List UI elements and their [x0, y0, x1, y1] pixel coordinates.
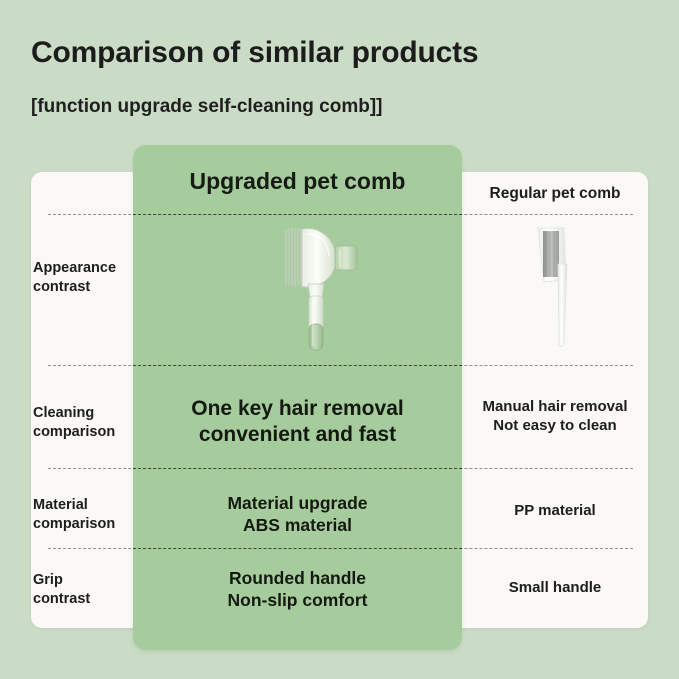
regular-pet-comb-illustration [522, 224, 592, 350]
cell-regular-cleaning: Manual hair removal Not easy to clean [462, 397, 648, 435]
cell-featured-cleaning-line1: One key hair removal [133, 396, 462, 422]
cell-regular-grip: Small handle [462, 578, 648, 597]
column-header-regular: Regular pet comb [462, 185, 648, 203]
row-label-cleaning: Cleaning comparison [31, 404, 133, 441]
page-title: Comparison of similar products [31, 36, 478, 70]
row-divider-1 [48, 365, 633, 366]
row-label-material-line1: Material [33, 496, 133, 515]
cell-featured-cleaning: One key hair removal convenient and fast [133, 396, 462, 449]
cell-featured-material-line2: ABS material [133, 515, 462, 537]
cell-featured-material: Material upgrade ABS material [133, 493, 462, 537]
row-divider-3 [48, 548, 633, 549]
page-subtitle: [function upgrade self-cleaning comb]] [31, 96, 383, 118]
cell-featured-grip: Rounded handle Non-slip comfort [133, 568, 462, 612]
cell-regular-cleaning-line1: Manual hair removal [462, 397, 648, 416]
cell-featured-material-line1: Material upgrade [133, 493, 462, 515]
column-header-upgraded: Upgraded pet comb [133, 168, 462, 195]
row-label-appearance: Appearance contrast [31, 259, 133, 296]
row-divider-top [48, 214, 633, 215]
row-label-material-line2: comparison [33, 515, 133, 534]
row-divider-2 [48, 468, 633, 469]
row-label-appearance-line2: contrast [33, 278, 133, 297]
row-label-cleaning-line2: comparison [33, 423, 133, 442]
row-label-material: Material comparison [31, 496, 133, 533]
row-label-grip: Grip contrast [31, 571, 133, 608]
cell-featured-cleaning-line2: convenient and fast [133, 422, 462, 448]
upgraded-pet-comb-illustration [268, 222, 378, 352]
cell-featured-grip-line1: Rounded handle [133, 568, 462, 590]
row-label-grip-line1: Grip [33, 571, 133, 590]
row-label-grip-line2: contrast [33, 590, 133, 609]
cell-featured-grip-line2: Non-slip comfort [133, 590, 462, 612]
row-label-cleaning-line1: Cleaning [33, 404, 133, 423]
cell-regular-material: PP material [462, 501, 648, 520]
cell-regular-grip-line1: Small handle [462, 578, 648, 597]
infographic-root: Comparison of similar products [function… [0, 0, 679, 679]
cell-regular-material-line1: PP material [462, 501, 648, 520]
cell-regular-cleaning-line2: Not easy to clean [462, 416, 648, 435]
row-label-appearance-line1: Appearance [33, 259, 133, 278]
